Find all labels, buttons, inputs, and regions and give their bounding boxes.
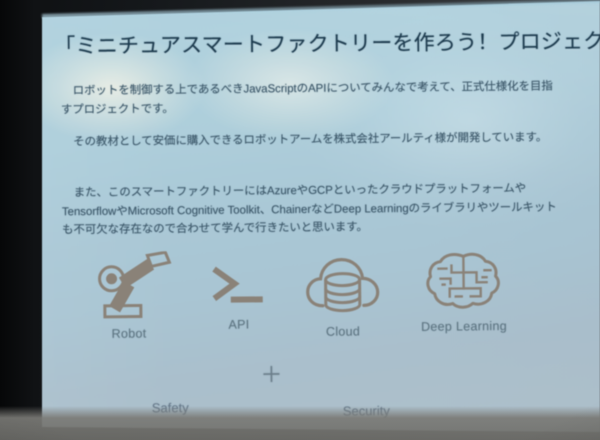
presentation-slide: 「ミニチュアスマートファクトリーを作ろう！プロジェクト」とは ロボットを制御する… [0,0,600,440]
paragraph-robot-arm-material: その教材として安価に購入できるロボットアームを株式会社アールティ様が開発していま… [61,128,561,151]
projected-slide-photo: 「ミニチュアスマートファクトリーを作ろう！プロジェクト」とは ロボットを制御する… [0,0,600,440]
paragraph-project-overview: ロボットを制御する上であるべきJavaScriptのAPIについてみんなで考えて… [61,77,561,119]
room-floor-band [0,406,600,440]
icon-label-cloud: Cloud [326,324,360,338]
slide-title: 「ミニチュアスマートファクトリーを作ろう！プロジェクト」とは [54,24,600,60]
icon-item-deep-learning: Deep Learning [398,250,529,336]
icon-label-deep-learning: Deep Learning [421,319,507,334]
plus-sign: ＋ [259,364,283,386]
icon-label-api: API [228,317,249,331]
icon-item-robot: Robot [72,251,185,343]
paragraph-cloud-and-dl: また、このスマートファクトリーにはAzureやGCPといったクラウドプラットフォ… [62,179,563,239]
brain-circuit-icon [398,250,529,318]
icon-item-cloud: Cloud [292,255,393,341]
icon-label-robot: Robot [112,326,147,340]
robot-arm-icon [72,251,185,325]
slide-content: 「ミニチュアスマートファクトリーを作ろう！プロジェクト」とは ロボットを制御する… [0,0,600,440]
terminal-prompt-icon [190,262,287,316]
icon-item-api: API [190,262,287,334]
cloud-database-icon [292,255,393,323]
